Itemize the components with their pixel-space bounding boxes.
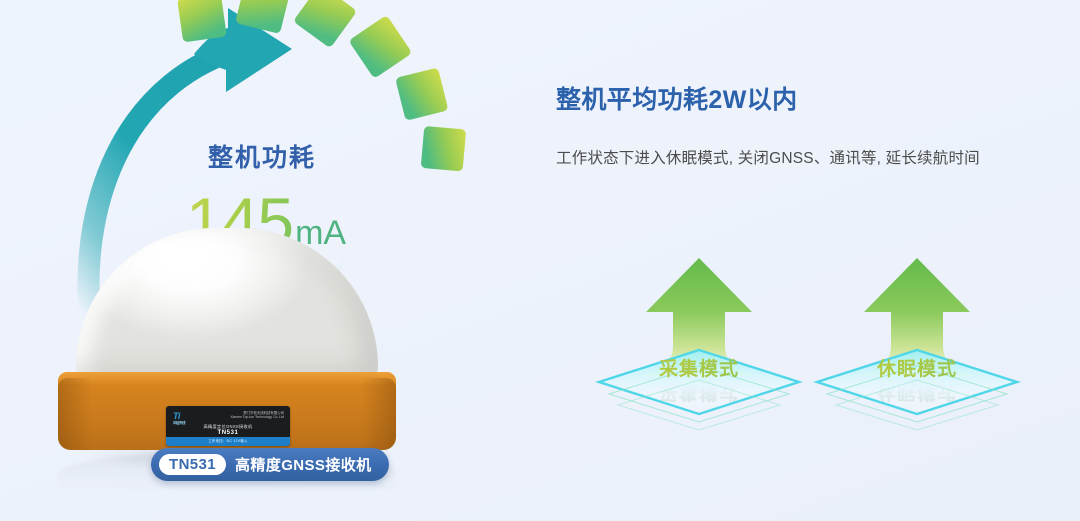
power-consumption-banner: 整机功耗 145mA 145mA Ti 华信天线 (0, 0, 1080, 521)
mode-graphic-sleep (802, 250, 1032, 440)
mode-label-sleep: 休眠模式 (802, 354, 1032, 381)
mode-illustrations: 采集模式 采集模式 (584, 250, 1064, 440)
mode-item-sleep: 休眠模式 休眠模式 (802, 250, 1032, 440)
product-label-plate: Ti 华信天线 厦门华信天线科技有限公司 Xiamen Top-ton Tech… (166, 406, 290, 446)
product-base-top-edge (58, 372, 396, 384)
badge-model-chip: TN531 (159, 454, 226, 475)
product-name-badge[interactable]: TN531 高精度GNSS接收机 (151, 448, 389, 481)
mode-item-collection: 采集模式 采集模式 (584, 250, 814, 440)
body-copy: 工作状态下进入休眠模式, 关闭GNSS、通讯等, 延长续航时间 (556, 142, 996, 176)
product-base-right-shade (362, 378, 396, 450)
plate-voltage-text: 工作电压：DC 12V输入 (166, 437, 290, 446)
plate-company: 厦门华信天线科技有限公司 Xiamen Top-ton Technology C… (226, 411, 284, 420)
gauge-label: 整机功耗 (112, 138, 412, 174)
product-base-left-shade (58, 378, 92, 450)
brand-logo-icon: Ti 华信天线 (173, 411, 185, 425)
brand-logo-text: Ti (173, 411, 180, 421)
gnss-receiver-product-image: Ti 华信天线 厦门华信天线科技有限公司 Xiamen Top-ton Tech… (58, 228, 396, 464)
plate-model: TN531 (166, 430, 290, 436)
radome-highlight (128, 238, 256, 298)
plate-company-en: Xiamen Top-ton Technology Co.,Ltd (226, 415, 284, 419)
badge-title: 高精度GNSS接收机 (235, 454, 372, 475)
mode-label-collection: 采集模式 (584, 354, 814, 381)
product-radome (76, 228, 378, 380)
plate-voltage-strip: 工作电压：DC 12V输入 (166, 437, 290, 446)
product-gauge-panel: 整机功耗 145mA 145mA Ti 华信天线 (0, 0, 520, 521)
mode-graphic-collection (584, 250, 814, 440)
copy-panel: 整机平均功耗2W以内 工作状态下进入休眠模式, 关闭GNSS、通讯等, 延长续航… (556, 0, 1080, 521)
headline: 整机平均功耗2W以内 (556, 80, 798, 116)
